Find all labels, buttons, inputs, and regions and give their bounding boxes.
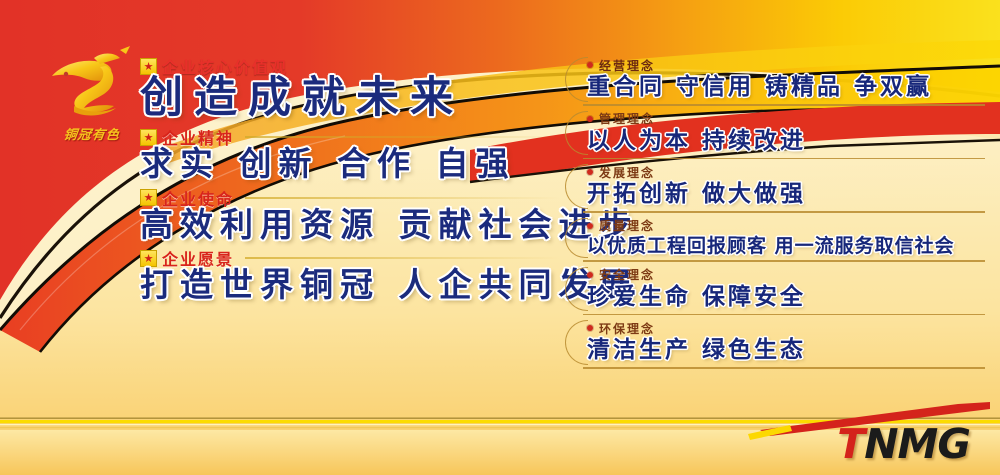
emblem-caption: 铜冠有色 [43,124,142,143]
tnmg-initial: T [837,420,864,468]
card-kicker-label: 经营理念 [599,57,655,74]
corporate-culture-banner: 铜冠有色 ★ 企业核心价值观 创造成就未来 ★ 企业精神 求实 创新 合作 自强… [0,0,1000,475]
company-emblem: 铜冠有色 [44,46,140,150]
card-bracket [565,164,588,209]
tnmg-rest: NMG [864,420,970,468]
card-underline [583,260,985,261]
left-value-column: ★ 企业核心价值观 创造成就未来 ★ 企业精神 求实 创新 合作 自强 ★ 企业… [140,56,560,305]
card-underline [583,104,985,105]
card-body: 重合同 守信用 铸精品 争双赢 [587,74,985,102]
flame-phoenix-mark-icon [44,46,140,122]
card-bracket [565,111,588,156]
card-kicker-label: 环保理念 [599,320,655,337]
card-bracket [565,320,588,365]
card-body: 珍爱生命 保障安全 [587,284,985,312]
value-block-spirit: ★ 企业精神 求实 创新 合作 自强 [140,127,560,182]
card-kicker-label: 质量理念 [599,217,655,234]
value-block-vision: ★ 企业愿景 打造世界铜冠 人企共同发展 [140,248,560,303]
philosophy-card-safety: 安全理念 珍爱生命 保障安全 [565,265,985,316]
kicker-rule [245,257,560,259]
card-bracket [565,267,588,312]
card-kicker: 安全理念 [587,267,985,283]
card-kicker: 质量理念 [587,218,985,234]
card-underline [583,367,985,368]
card-underline [583,158,985,159]
philosophy-card-business: 经营理念 重合同 守信用 铸精品 争双赢 [565,55,985,106]
slogan-vision: 打造世界铜冠 人企共同发展 [140,268,560,303]
philosophy-card-quality: 质量理念 以优质工程回报顾客 用一流服务取信社会 [565,216,985,262]
right-philosophy-column: 经营理念 重合同 守信用 铸精品 争双赢 管理理念 以人为本 持续改进 发展理念… [565,55,985,372]
card-body: 开拓创新 做大做强 [587,181,985,209]
value-block-mission: ★ 企业使命 高效利用资源 贡献社会进步 [140,188,560,243]
tnmg-wordmark: TNMG [837,424,970,465]
slogan-core-values: 创造成就未来 [140,76,560,121]
kicker-rule [245,197,560,199]
card-kicker: 环保理念 [587,320,985,336]
card-body: 清洁生产 绿色生态 [587,337,985,365]
slogan-spirit: 求实 创新 合作 自强 [140,147,560,182]
card-kicker: 经营理念 [587,57,985,73]
card-kicker: 管理理念 [587,111,985,127]
star-chip-icon: ★ [140,189,157,206]
philosophy-card-development: 发展理念 开拓创新 做大做强 [565,162,985,213]
card-body: 以优质工程回报顾客 用一流服务取信社会 [587,235,985,258]
card-kicker-label: 管理理念 [599,110,655,127]
card-body: 以人为本 持续改进 [587,128,985,156]
philosophy-card-management: 管理理念 以人为本 持续改进 [565,109,985,160]
card-bracket [565,57,588,102]
philosophy-card-environment: 环保理念 清洁生产 绿色生态 [565,318,985,369]
card-underline [583,314,985,315]
kicker-rule [245,136,560,138]
card-underline [583,211,985,212]
value-block-core-values: ★ 企业核心价值观 创造成就未来 [140,56,560,121]
star-chip-icon: ★ [140,58,157,75]
card-bracket [565,218,588,258]
slogan-mission: 高效利用资源 贡献社会进步 [140,208,560,243]
card-kicker-label: 安全理念 [599,266,655,283]
card-kicker: 发展理念 [587,164,985,180]
card-kicker-label: 发展理念 [599,164,655,181]
tnmg-logo: TNMG [738,409,978,469]
